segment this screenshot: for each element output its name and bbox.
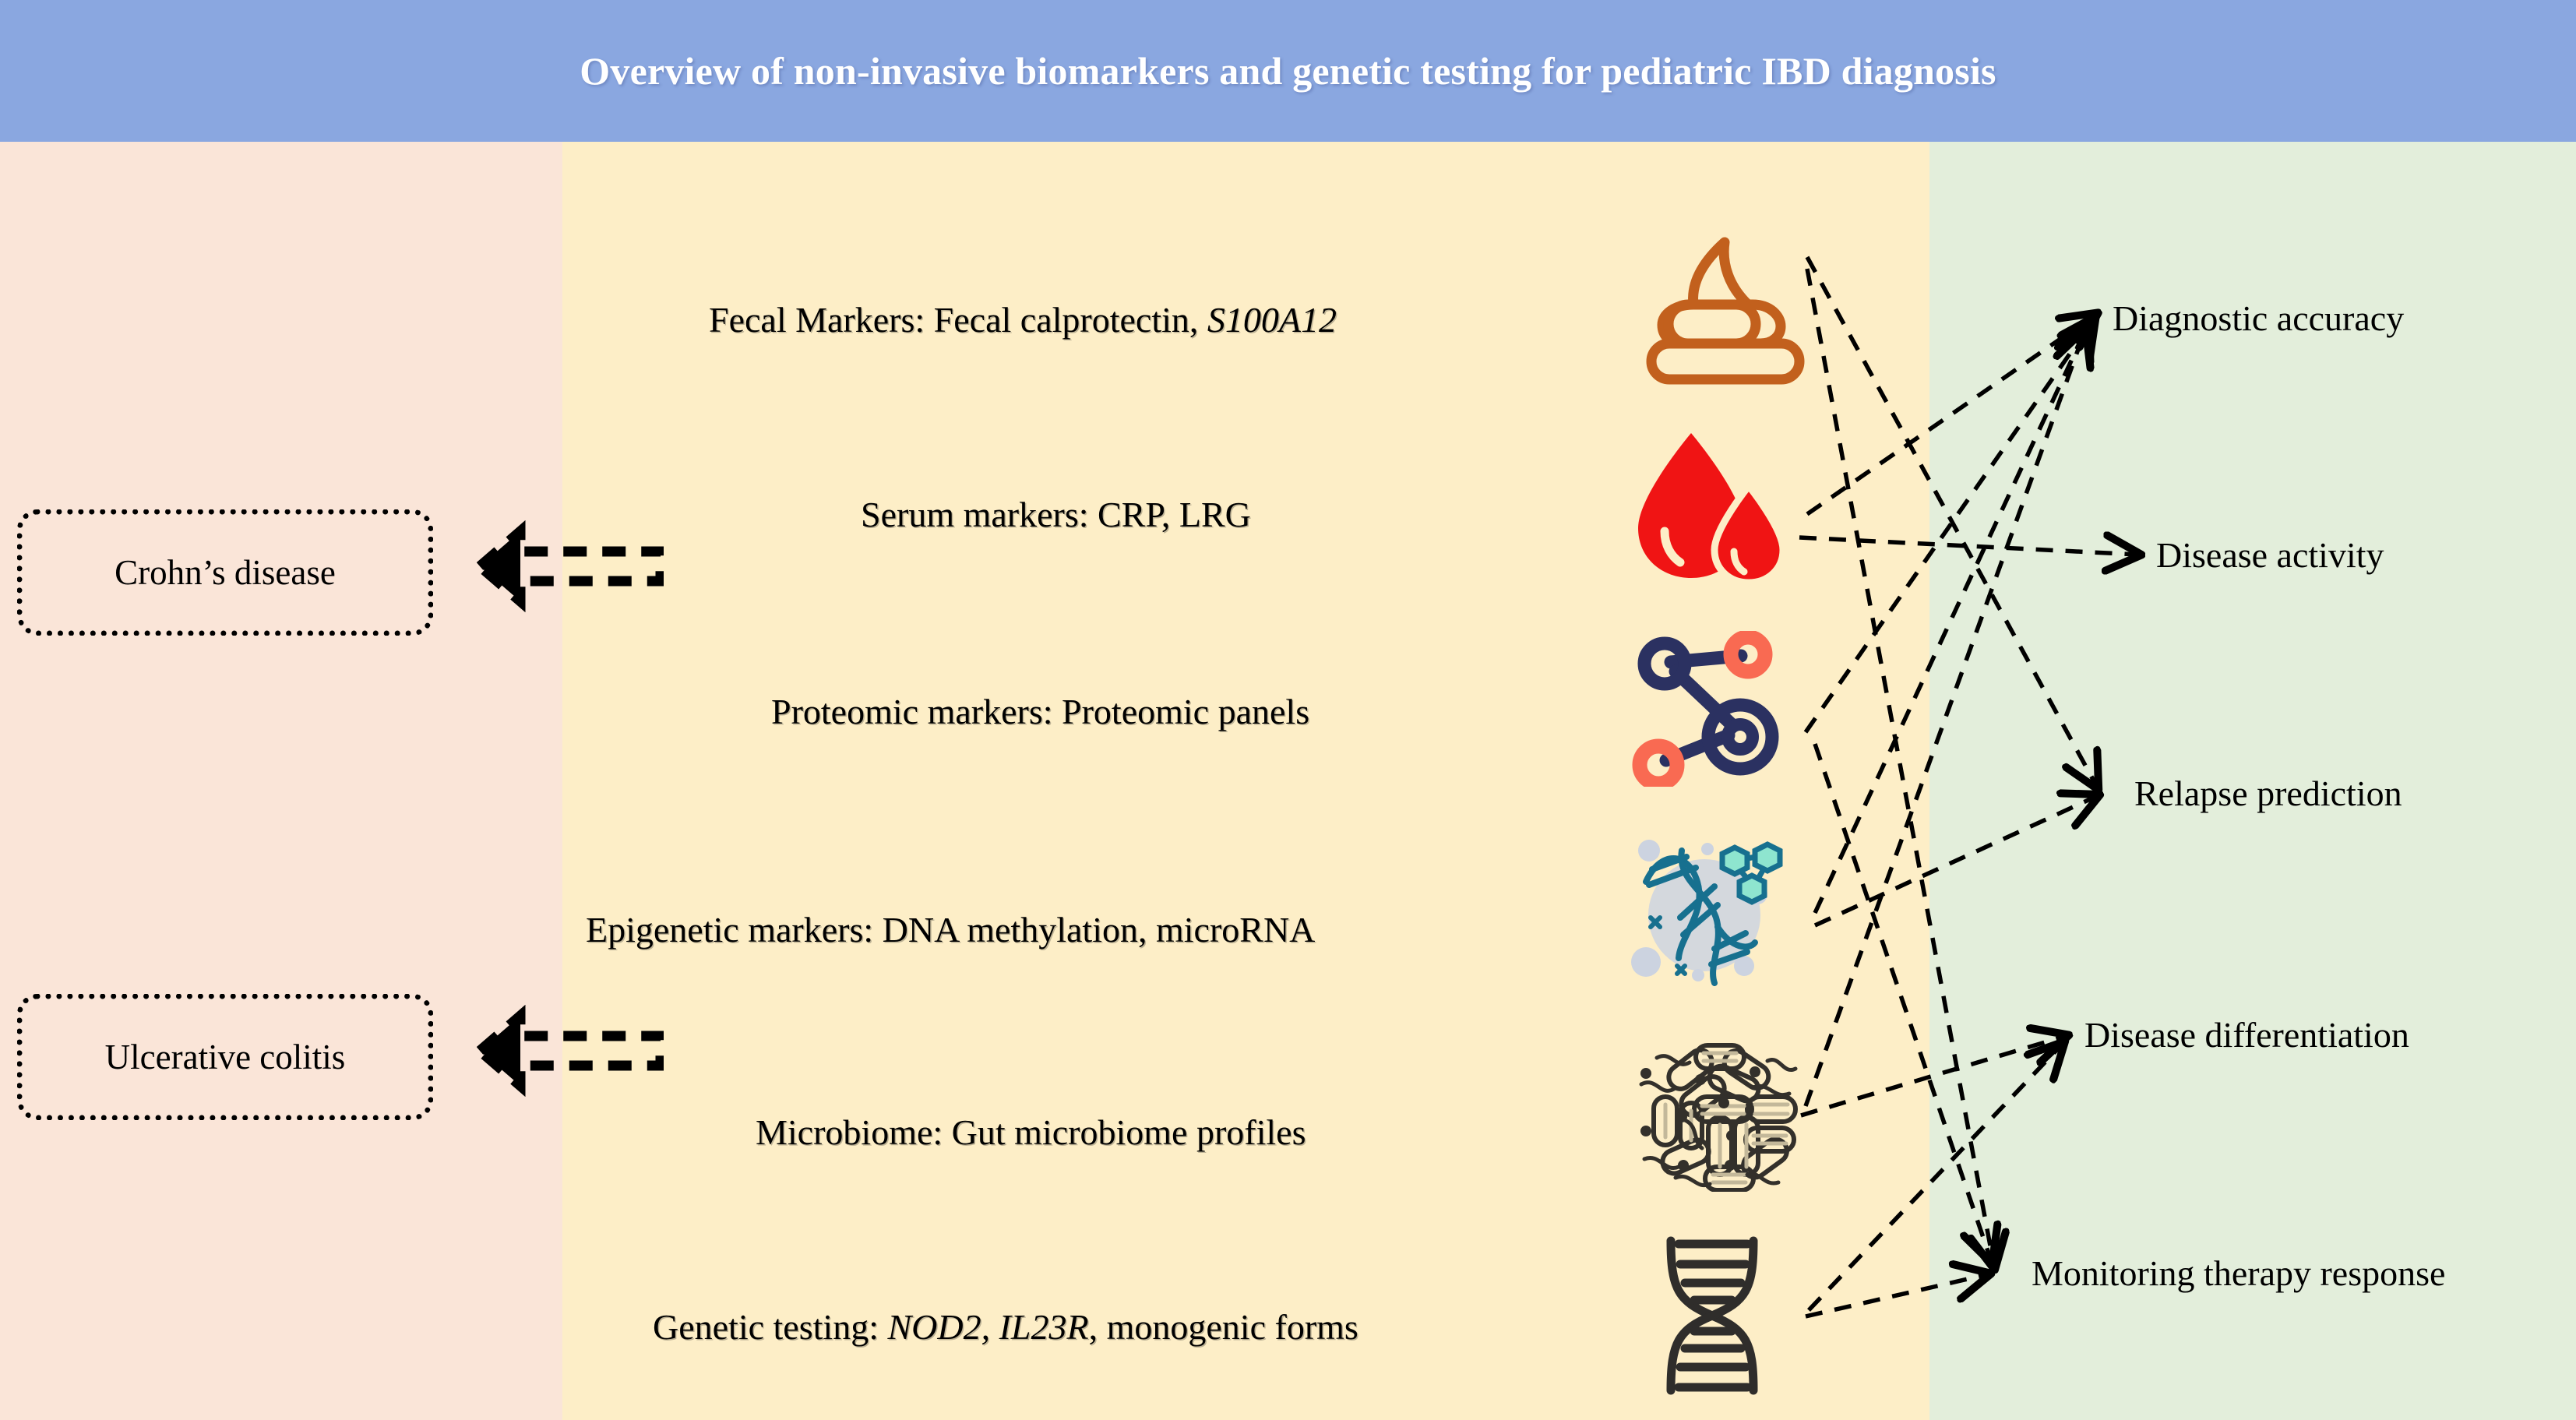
biomarker-row-fecal-markers: Fecal Markers: Fecal calprotectin, S100A…: [709, 292, 1337, 347]
disease-label: Ulcerative colitis: [105, 1037, 346, 1077]
disease-label: Crohn’s disease: [115, 552, 336, 593]
dna-helix-icon: [1630, 1235, 1798, 1398]
gut-bacteria-icon: [1630, 1036, 1798, 1192]
icon-well-proteomic-markers: [1624, 627, 1803, 791]
disease-box-crohns-disease[interactable]: Crohn’s disease: [17, 509, 433, 636]
biomarker-label: Epigenetic markers: DNA methylation, mic…: [586, 909, 1315, 950]
diagram-canvas: Overview of non-invasive biomarkers and …: [0, 0, 2576, 1420]
blood-drop-icon: [1630, 428, 1798, 584]
biomarker-label: Microbiome: Gut microbiome profiles: [756, 1112, 1306, 1153]
icon-well-genetic-testing: [1624, 1235, 1803, 1398]
icon-well-fecal-markers: [1636, 226, 1815, 389]
biomarker-row-serum-markers: Serum markers: CRP, LRG: [861, 487, 1251, 541]
biomarker-label: Fecal Markers: Fecal calprotectin, S100A…: [709, 299, 1337, 340]
biomarker-label: Proteomic markers: Proteomic panels: [771, 691, 1309, 732]
biomarker-row-microbiome: Microbiome: Gut microbiome profiles: [756, 1105, 1306, 1159]
protein-network-icon: [1630, 631, 1798, 787]
biomarker-label: Serum markers: CRP, LRG: [861, 494, 1251, 535]
block-arrow-to-crohns-disease: [477, 520, 664, 612]
title-bar: Overview of non-invasive biomarkers and …: [0, 0, 2576, 142]
disease-box-ulcerative-colitis[interactable]: Ulcerative colitis: [17, 994, 433, 1120]
outcome-diagnostic-accuracy: Diagnostic accuracy: [2113, 298, 2404, 339]
biomarker-label: Genetic testing: NOD2, IL23R, monogenic …: [653, 1306, 1358, 1348]
icon-well-microbiome: [1624, 1032, 1803, 1196]
disease-column-band: [0, 142, 562, 1420]
icon-well-serum-markers: [1624, 425, 1803, 588]
stool-icon: [1644, 230, 1807, 386]
biomarker-row-proteomic-markers: Proteomic markers: Proteomic panels: [771, 684, 1309, 738]
biomarker-row-epigenetic-markers: Epigenetic markers: DNA methylation, mic…: [586, 902, 1315, 957]
block-arrow-to-ulcerative-colitis: [477, 1005, 664, 1097]
outcome-monitoring-therapy-response: Monitoring therapy response: [2032, 1253, 2445, 1294]
dna-methylation-icon: [1630, 833, 1798, 989]
outcome-disease-differentiation: Disease differentiation: [2084, 1014, 2409, 1055]
biomarker-row-genetic-testing: Genetic testing: NOD2, IL23R, monogenic …: [653, 1299, 1358, 1354]
outcome-relapse-prediction: Relapse prediction: [2134, 773, 2402, 814]
outcome-disease-activity: Disease activity: [2156, 534, 2384, 576]
icon-well-epigenetic-markers: [1624, 830, 1803, 993]
page-title: Overview of non-invasive biomarkers and …: [580, 48, 1996, 93]
